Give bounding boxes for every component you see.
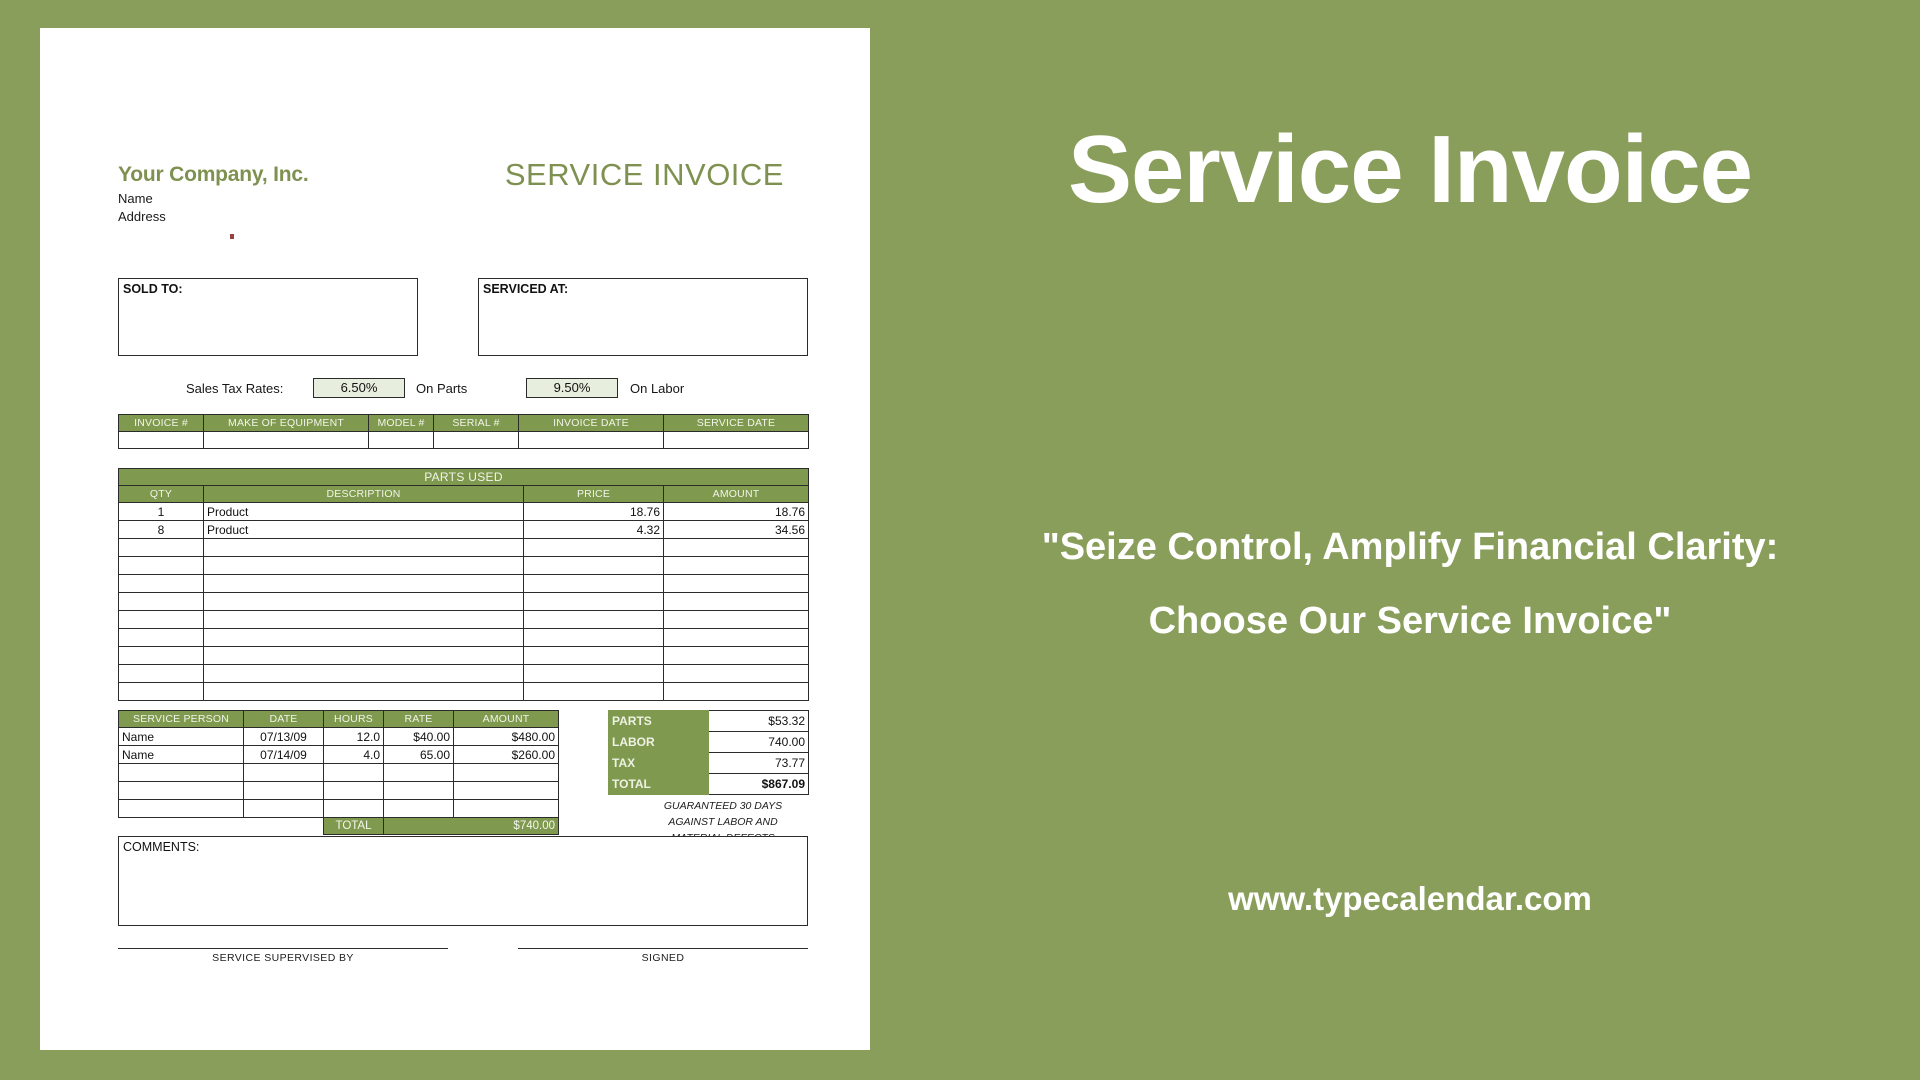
tax-parts-suffix-label: On Parts xyxy=(416,381,467,396)
table-row[interactable] xyxy=(119,782,559,800)
guarantee-line-1: GUARANTEED 30 DAYS xyxy=(638,798,808,814)
parts-cell-amount[interactable]: 34.56 xyxy=(664,521,809,539)
labor-table-body: Name07/13/0912.0$40.00$480.00Name07/14/0… xyxy=(119,728,559,818)
table-row[interactable] xyxy=(119,539,809,557)
invoice-header: Your Company, Inc. Name Address SERVICE … xyxy=(118,163,784,253)
table-row[interactable] xyxy=(119,665,809,683)
signature-line xyxy=(118,948,448,949)
table-row[interactable] xyxy=(119,683,809,701)
equipment-table: INVOICE # MAKE OF EQUIPMENT MODEL # SERI… xyxy=(118,414,809,449)
labor-cell-hours[interactable]: 12.0 xyxy=(324,728,384,746)
labor-cell-person[interactable] xyxy=(119,764,244,782)
invoice-sheet: Your Company, Inc. Name Address SERVICE … xyxy=(78,28,822,1050)
equipment-col-serial: SERIAL # xyxy=(434,415,519,432)
parts-cell-price[interactable] xyxy=(524,575,664,593)
equipment-col-make: MAKE OF EQUIPMENT xyxy=(204,415,369,432)
labor-total-row: TOTAL $740.00 xyxy=(119,818,559,835)
table-row[interactable] xyxy=(119,800,559,818)
parts-cell-qty[interactable] xyxy=(119,665,204,683)
signed-caption: SIGNED xyxy=(518,952,808,964)
labor-header-row: SERVICE PERSON DATE HOURS RATE AMOUNT xyxy=(119,711,559,728)
parts-banner-row: PARTS USED xyxy=(119,469,809,486)
parts-cell-description[interactable] xyxy=(204,539,524,557)
parts-cell-price[interactable] xyxy=(524,557,664,575)
labor-cell-date[interactable] xyxy=(244,800,324,818)
labor-cell-person[interactable] xyxy=(119,782,244,800)
company-name: Your Company, Inc. xyxy=(118,163,308,187)
table-row[interactable] xyxy=(119,764,559,782)
sold-to-box[interactable]: SOLD TO: xyxy=(118,278,418,356)
table-row[interactable]: Name07/13/0912.0$40.00$480.00 xyxy=(119,728,559,746)
table-row[interactable] xyxy=(119,593,809,611)
equipment-col-invoice-no: INVOICE # xyxy=(119,415,204,432)
parts-cell-price[interactable] xyxy=(524,629,664,647)
parts-cell-description[interactable] xyxy=(204,665,524,683)
signed-signature[interactable]: SIGNED xyxy=(518,948,808,978)
labor-cell-person[interactable]: Name xyxy=(119,746,244,764)
company-address: Address xyxy=(118,209,166,224)
parts-cell-description[interactable]: Product xyxy=(204,503,524,521)
promo-title: Service Invoice xyxy=(900,120,1920,220)
totals-row: PARTS$53.32 xyxy=(609,711,809,732)
sales-tax-rates-label: Sales Tax Rates: xyxy=(186,381,283,396)
totals-label-labor: LABOR xyxy=(609,732,709,753)
totals-label-total: TOTAL xyxy=(609,774,709,795)
parts-cell-qty[interactable] xyxy=(119,593,204,611)
promo-tagline: "Seize Control, Amplify Financial Clarit… xyxy=(1000,510,1820,658)
parts-cell-qty[interactable] xyxy=(119,647,204,665)
signature-line xyxy=(518,948,808,949)
parts-table-body: 1Product18.7618.768Product4.3234.56 xyxy=(119,503,809,701)
parts-used-banner: PARTS USED xyxy=(119,469,809,486)
tax-labor-suffix-label: On Labor xyxy=(630,381,684,396)
parts-cell-amount[interactable] xyxy=(664,629,809,647)
table-row[interactable] xyxy=(119,575,809,593)
serviced-at-box[interactable]: SERVICED AT: xyxy=(478,278,808,356)
totals-row: TOTAL$867.09 xyxy=(609,774,809,795)
parts-cell-qty[interactable] xyxy=(119,539,204,557)
parts-cell-description[interactable] xyxy=(204,683,524,701)
parts-cell-qty[interactable] xyxy=(119,611,204,629)
totals-label-tax: TAX xyxy=(609,753,709,774)
parts-cell-price[interactable] xyxy=(524,611,664,629)
table-row[interactable]: 1Product18.7618.76 xyxy=(119,503,809,521)
parts-col-qty: QTY xyxy=(119,486,204,503)
equipment-cell-service-date[interactable] xyxy=(664,432,809,449)
labor-cell-date[interactable] xyxy=(244,782,324,800)
parts-cell-price[interactable] xyxy=(524,539,664,557)
parts-cell-amount[interactable] xyxy=(664,557,809,575)
equipment-cell-make[interactable] xyxy=(204,432,369,449)
serviced-at-label: SERVICED AT: xyxy=(483,282,568,296)
labor-cell-amount[interactable]: $480.00 xyxy=(454,728,559,746)
labor-cell-hours[interactable] xyxy=(324,782,384,800)
labor-cell-hours[interactable] xyxy=(324,800,384,818)
labor-cell-rate[interactable] xyxy=(384,800,454,818)
labor-cell-rate[interactable] xyxy=(384,764,454,782)
equipment-cell-invoice-date[interactable] xyxy=(519,432,664,449)
totals-value-tax: 73.77 xyxy=(709,753,809,774)
parts-cell-qty[interactable]: 8 xyxy=(119,521,204,539)
labor-col-hours: HOURS xyxy=(324,711,384,728)
labor-cell-hours[interactable]: 4.0 xyxy=(324,746,384,764)
tax-rate-labor-input[interactable]: 9.50% xyxy=(526,378,618,398)
labor-total-value: $740.00 xyxy=(384,818,559,835)
labor-cell-date[interactable]: 07/14/09 xyxy=(244,746,324,764)
labor-cell-rate[interactable] xyxy=(384,782,454,800)
parts-cell-amount[interactable] xyxy=(664,593,809,611)
parts-cell-qty[interactable] xyxy=(119,575,204,593)
labor-cell-rate[interactable]: 65.00 xyxy=(384,746,454,764)
parts-cell-description[interactable] xyxy=(204,647,524,665)
table-row[interactable] xyxy=(119,432,809,449)
labor-cell-rate[interactable]: $40.00 xyxy=(384,728,454,746)
service-supervised-caption: SERVICE SUPERVISED BY xyxy=(118,952,448,964)
labor-table: SERVICE PERSON DATE HOURS RATE AMOUNT Na… xyxy=(118,710,559,835)
labor-col-rate: RATE xyxy=(384,711,454,728)
totals-table: PARTS$53.32LABOR740.00TAX73.77TOTAL$867.… xyxy=(608,710,809,795)
parts-cell-description[interactable] xyxy=(204,593,524,611)
labor-col-amount: AMOUNT xyxy=(454,711,559,728)
document-title: SERVICE INVOICE xyxy=(505,157,784,193)
service-supervised-signature[interactable]: SERVICE SUPERVISED BY xyxy=(118,948,448,978)
totals-label-parts: PARTS xyxy=(609,711,709,732)
invoice-paper: Your Company, Inc. Name Address SERVICE … xyxy=(40,28,870,1050)
parts-col-price: PRICE xyxy=(524,486,664,503)
parts-cell-qty[interactable] xyxy=(119,557,204,575)
labor-cell-amount[interactable] xyxy=(454,782,559,800)
parts-cell-price[interactable] xyxy=(524,665,664,683)
labor-cell-amount[interactable] xyxy=(454,764,559,782)
comments-label: COMMENTS: xyxy=(123,840,199,854)
sold-to-label: SOLD TO: xyxy=(123,282,183,296)
labor-col-date: DATE xyxy=(244,711,324,728)
parts-cell-amount[interactable] xyxy=(664,647,809,665)
parts-cell-amount[interactable] xyxy=(664,683,809,701)
labor-cell-person[interactable]: Name xyxy=(119,728,244,746)
labor-cell-date[interactable]: 07/13/09 xyxy=(244,728,324,746)
parts-cell-description[interactable] xyxy=(204,629,524,647)
totals-row: LABOR740.00 xyxy=(609,732,809,753)
parts-cell-price[interactable] xyxy=(524,647,664,665)
totals-value-parts: $53.32 xyxy=(709,711,809,732)
parts-cell-description[interactable]: Product xyxy=(204,521,524,539)
labor-total-label: TOTAL xyxy=(324,818,384,835)
parts-cell-price[interactable]: 18.76 xyxy=(524,503,664,521)
parts-header-row: QTY DESCRIPTION PRICE AMOUNT xyxy=(119,486,809,503)
parts-cell-amount[interactable] xyxy=(664,539,809,557)
parts-col-amount: AMOUNT xyxy=(664,486,809,503)
guarantee-line-2: AGAINST LABOR AND xyxy=(638,814,808,830)
parts-cell-amount[interactable] xyxy=(664,575,809,593)
labor-cell-amount[interactable] xyxy=(454,800,559,818)
totals-row: TAX73.77 xyxy=(609,753,809,774)
sales-tax-rates-row: Sales Tax Rates: 6.50% On Parts 9.50% On… xyxy=(118,378,808,400)
parts-cell-description[interactable] xyxy=(204,575,524,593)
equipment-col-model: MODEL # xyxy=(369,415,434,432)
labor-cell-amount[interactable]: $260.00 xyxy=(454,746,559,764)
company-contact-name: Name xyxy=(118,191,153,206)
red-mark-icon xyxy=(230,234,234,239)
totals-value-labor: 740.00 xyxy=(709,732,809,753)
parts-cell-description[interactable] xyxy=(204,557,524,575)
parts-cell-qty[interactable]: 1 xyxy=(119,503,204,521)
parts-cell-description[interactable] xyxy=(204,611,524,629)
parts-cell-qty[interactable] xyxy=(119,683,204,701)
parts-cell-price[interactable] xyxy=(524,593,664,611)
equipment-cell-serial[interactable] xyxy=(434,432,519,449)
totals-value-total: $867.09 xyxy=(709,774,809,795)
totals-table-body: PARTS$53.32LABOR740.00TAX73.77TOTAL$867.… xyxy=(609,711,809,795)
parts-cell-amount[interactable] xyxy=(664,611,809,629)
table-row[interactable] xyxy=(119,611,809,629)
equipment-cell-invoice-no[interactable] xyxy=(119,432,204,449)
parts-col-description: DESCRIPTION xyxy=(204,486,524,503)
table-row[interactable] xyxy=(119,629,809,647)
labor-cell-date[interactable] xyxy=(244,764,324,782)
equipment-col-service-date: SERVICE DATE xyxy=(664,415,809,432)
table-row[interactable]: Name07/14/094.065.00$260.00 xyxy=(119,746,559,764)
labor-cell-hours[interactable] xyxy=(324,764,384,782)
table-row[interactable] xyxy=(119,647,809,665)
parts-cell-amount[interactable]: 18.76 xyxy=(664,503,809,521)
parts-cell-amount[interactable] xyxy=(664,665,809,683)
table-row[interactable] xyxy=(119,557,809,575)
labor-cell-person[interactable] xyxy=(119,800,244,818)
parts-cell-price[interactable] xyxy=(524,683,664,701)
tax-rate-parts-input[interactable]: 6.50% xyxy=(313,378,405,398)
comments-box[interactable]: COMMENTS: xyxy=(118,836,808,926)
equipment-header-row: INVOICE # MAKE OF EQUIPMENT MODEL # SERI… xyxy=(119,415,809,432)
parts-used-table: PARTS USED QTY DESCRIPTION PRICE AMOUNT … xyxy=(118,468,809,701)
table-row[interactable]: 8Product4.3234.56 xyxy=(119,521,809,539)
parts-cell-price[interactable]: 4.32 xyxy=(524,521,664,539)
promo-panel: Service Invoice "Seize Control, Amplify … xyxy=(900,0,1920,1080)
parts-cell-qty[interactable] xyxy=(119,629,204,647)
labor-col-service-person: SERVICE PERSON xyxy=(119,711,244,728)
equipment-col-invoice-date: INVOICE DATE xyxy=(519,415,664,432)
promo-url[interactable]: www.typecalendar.com xyxy=(900,880,1920,918)
poster-canvas: Your Company, Inc. Name Address SERVICE … xyxy=(0,0,1920,1080)
equipment-cell-model[interactable] xyxy=(369,432,434,449)
